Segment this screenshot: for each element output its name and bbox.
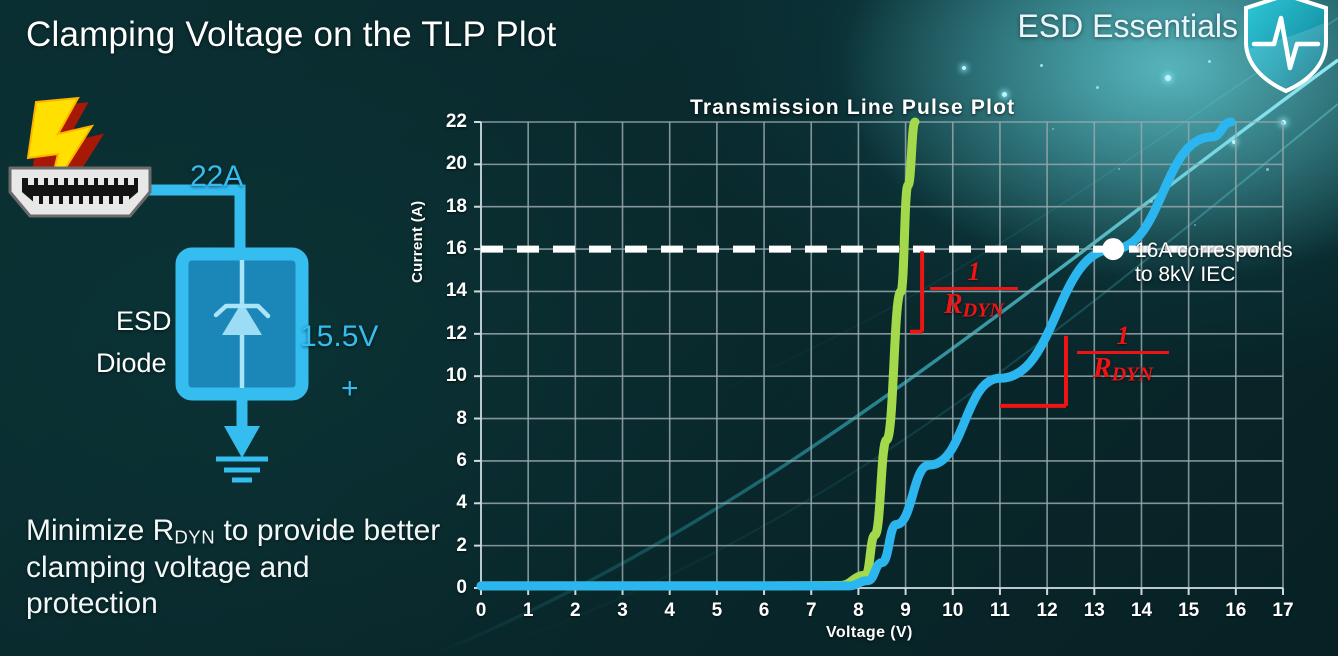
chart-y-tick: 4	[433, 492, 467, 514]
fraction-numerator: 1	[1077, 322, 1169, 349]
chart-x-tick: 6	[749, 600, 779, 622]
fraction-denominator: RDYN	[930, 290, 1018, 322]
denominator-sub: DYN	[963, 300, 1004, 322]
chart-x-tick: 4	[655, 600, 685, 622]
denominator-base: R	[1093, 353, 1112, 384]
chart-x-tick: 5	[702, 600, 732, 622]
chart-x-tick: 9	[891, 600, 921, 622]
chart-y-tick: 20	[433, 153, 467, 175]
denominator-base: R	[944, 289, 963, 320]
chart-x-tick: 17	[1268, 600, 1298, 622]
chart-y-tick: 18	[433, 196, 467, 218]
slope-annotation-blue: 1 RDYN	[1077, 322, 1169, 386]
chart-x-tick: 7	[796, 600, 826, 622]
chart-y-tick: 16	[433, 238, 467, 260]
fraction-denominator: RDYN	[1077, 354, 1169, 386]
chart-x-tick: 0	[466, 600, 496, 622]
slope-annotation-green: 1 RDYN	[930, 258, 1018, 322]
clamping-point-callout: 16A corresponds to 8kV IEC	[1135, 239, 1338, 286]
callout-line-2: to 8kV IEC	[1135, 263, 1338, 287]
fraction-numerator: 1	[930, 258, 1018, 285]
chart-y-tick: 0	[433, 577, 467, 599]
chart-x-tick: 3	[608, 600, 638, 622]
chart-y-tick: 8	[433, 408, 467, 430]
chart-x-tick: 15	[1174, 600, 1204, 622]
chart-x-tick: 1	[513, 600, 543, 622]
chart-x-tick: 12	[1032, 600, 1062, 622]
chart-x-tick: 8	[843, 600, 873, 622]
chart-x-tick: 11	[985, 600, 1015, 622]
chart-x-tick: 2	[560, 600, 590, 622]
chart-y-tick: 12	[433, 323, 467, 345]
denominator-sub: DYN	[1112, 364, 1153, 386]
chart-y-tick: 6	[433, 450, 467, 472]
chart-y-tick: 14	[433, 280, 467, 302]
chart-x-tick: 16	[1221, 600, 1251, 622]
chart-y-tick: 22	[433, 111, 467, 133]
chart-x-tick: 13	[1079, 600, 1109, 622]
slide-root: Clamping Voltage on the TLP Plot ESD Ess…	[0, 0, 1338, 656]
chart-y-tick: 2	[433, 535, 467, 557]
chart-x-tick: 10	[938, 600, 968, 622]
chart-y-tick: 10	[433, 365, 467, 387]
chart-x-tick: 14	[1126, 600, 1156, 622]
callout-line-1: 16A corresponds	[1135, 239, 1338, 263]
chart-markers	[1102, 238, 1124, 260]
